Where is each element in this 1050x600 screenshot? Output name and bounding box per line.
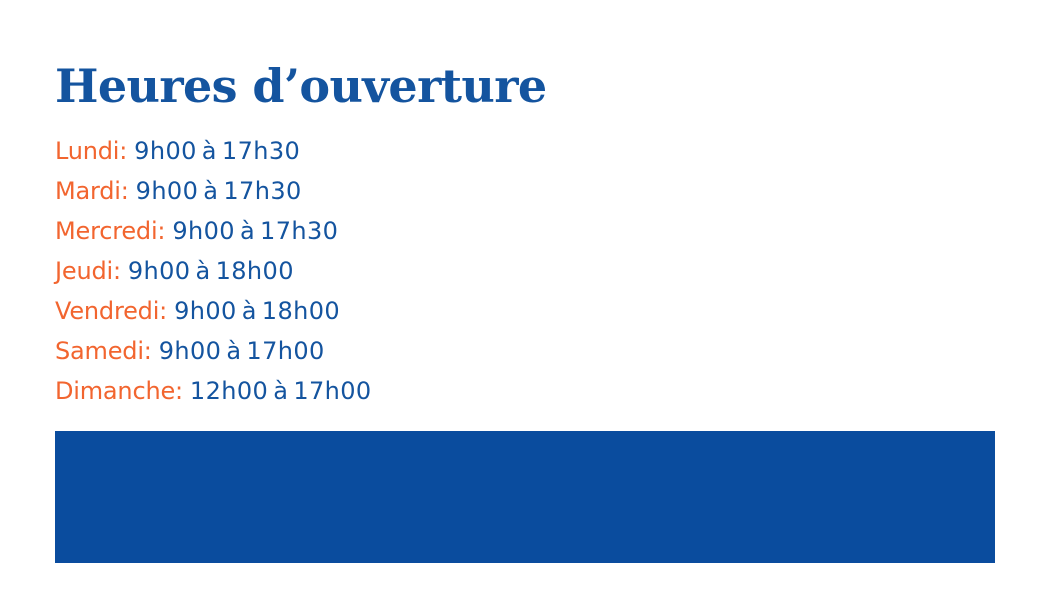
hours-value: 9h00à17h30: [172, 217, 338, 245]
open-time: 9h00: [136, 177, 199, 205]
day-label: Mercredi:: [55, 217, 165, 245]
hours-value: 12h00à17h00: [190, 377, 372, 405]
open-time: 9h00: [159, 337, 222, 365]
hours-value: 9h00à17h30: [136, 177, 302, 205]
close-time: 17h30: [223, 177, 301, 205]
list-item: Dimanche:12h00à17h00: [55, 374, 755, 414]
open-time: 9h00: [134, 137, 197, 165]
list-item: Mercredi:9h00à17h30: [55, 214, 755, 254]
close-time: 17h00: [293, 377, 371, 405]
day-label: Samedi:: [55, 337, 152, 365]
time-separator: à: [273, 377, 288, 405]
hours-value: 9h00à18h00: [128, 257, 294, 285]
list-item: Vendredi:9h00à18h00: [55, 294, 755, 334]
list-item: Jeudi:9h00à18h00: [55, 254, 755, 294]
close-time: 18h00: [262, 297, 340, 325]
open-time: 9h00: [174, 297, 237, 325]
open-time: 12h00: [190, 377, 268, 405]
slide-canvas: Heures d’ouverture Lundi:9h00à17h30 Mard…: [0, 0, 1050, 600]
content-placeholder-block: [55, 431, 995, 563]
time-separator: à: [240, 217, 255, 245]
open-time: 9h00: [128, 257, 191, 285]
open-time: 9h00: [172, 217, 235, 245]
hours-value: 9h00à17h00: [159, 337, 325, 365]
opening-hours-list: Lundi:9h00à17h30 Mardi:9h00à17h30 Mercre…: [55, 134, 755, 414]
time-separator: à: [226, 337, 241, 365]
list-item: Lundi:9h00à17h30: [55, 134, 755, 174]
day-label: Lundi:: [55, 137, 127, 165]
close-time: 17h30: [260, 217, 338, 245]
close-time: 17h30: [222, 137, 300, 165]
time-separator: à: [242, 297, 257, 325]
hours-value: 9h00à18h00: [174, 297, 340, 325]
time-separator: à: [203, 177, 218, 205]
page-title: Heures d’ouverture: [55, 60, 547, 112]
day-label: Jeudi:: [55, 257, 121, 285]
close-time: 18h00: [216, 257, 294, 285]
hours-value: 9h00à17h30: [134, 137, 300, 165]
list-item: Samedi:9h00à17h00: [55, 334, 755, 374]
time-separator: à: [202, 137, 217, 165]
day-label: Dimanche:: [55, 377, 183, 405]
list-item: Mardi:9h00à17h30: [55, 174, 755, 214]
close-time: 17h00: [246, 337, 324, 365]
day-label: Mardi:: [55, 177, 129, 205]
day-label: Vendredi:: [55, 297, 167, 325]
time-separator: à: [195, 257, 210, 285]
